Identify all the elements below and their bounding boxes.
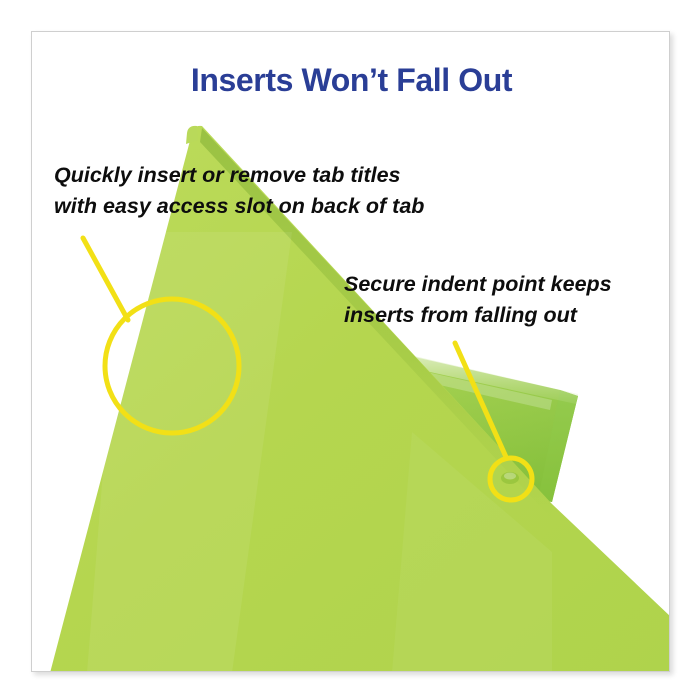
callout-access-slot-line2: with easy access slot on back of tab — [54, 191, 424, 222]
callout-indent-point: Secure indent point keeps inserts from f… — [344, 269, 612, 331]
screenshot-canvas: Inserts Won’t Fall Out Quickly insert or… — [0, 0, 700, 700]
callout-access-slot: Quickly insert or remove tab titles with… — [54, 160, 424, 222]
callout-access-slot-line1: Quickly insert or remove tab titles — [54, 160, 424, 191]
callout-indent-point-line1: Secure indent point keeps — [344, 269, 612, 300]
product-image-card: Inserts Won’t Fall Out Quickly insert or… — [31, 31, 670, 672]
product-photo — [32, 32, 670, 672]
callout-indent-point-line2: inserts from falling out — [344, 300, 612, 331]
indent-point-dimple — [501, 472, 519, 484]
page-title: Inserts Won’t Fall Out — [32, 62, 670, 99]
